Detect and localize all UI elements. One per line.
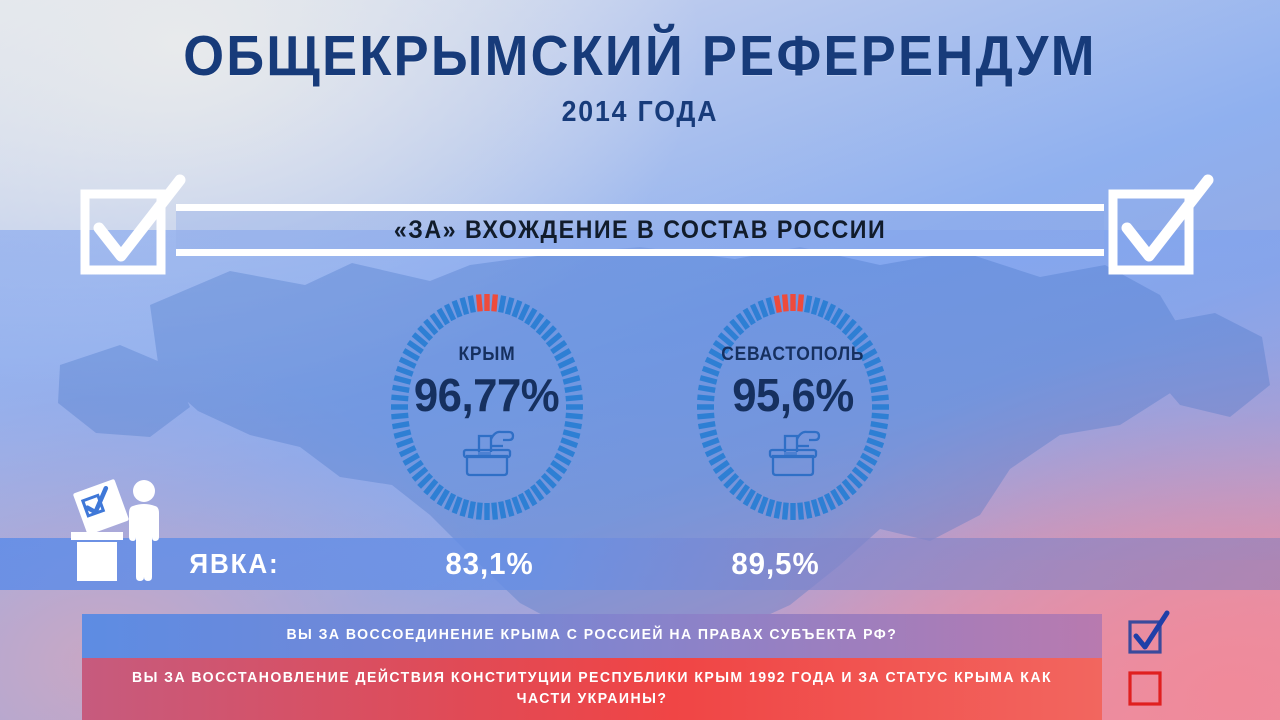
question-2-bar: ВЫ ЗА ВОССТАНОВЛЕНИЕ ДЕЙСТВИЯ КОНСТИТУЦИ…: [82, 658, 1102, 720]
banner-label: «ЗА» ВХОЖДЕНИЕ В СОСТАВ РОССИИ: [208, 204, 1071, 256]
infographic-canvas: ОБЩЕКРЫМСКИЙ РЕФЕРЕНДУМ 2014 ГОДА «ЗА» В…: [0, 0, 1280, 720]
ballot-box-icon: [765, 426, 821, 478]
ballot-question-2: ВЫ ЗА ВОССТАНОВЛЕНИЕ ДЕЙСТВИЯ КОНСТИТУЦИ…: [0, 658, 1280, 720]
donut-chart-sevastopol: СЕВАСТОПОЛЬ 95,6%: [685, 282, 901, 532]
donut-value-sevastopol: 95,6%: [732, 368, 854, 422]
turnout-value-sevastopol: 89,5%: [731, 546, 819, 582]
donut-chart-group: КРЫМ 96,77% СЕВАСТ: [0, 282, 1280, 534]
donut-label-sevastopol: СЕВАСТОПОЛЬ: [722, 344, 865, 366]
donut-chart-crimea: КРЫМ 96,77%: [379, 282, 595, 532]
title-subtitle: 2014 ГОДА: [51, 96, 1229, 129]
checkbox-empty-icon[interactable]: [1126, 669, 1168, 709]
ballot-box-icon: [459, 426, 515, 478]
ballot-questions: ВЫ ЗА ВОССОЕДИНЕНИЕ КРЫМА С РОССИЕЙ НА П…: [0, 614, 1280, 720]
question-2-text: ВЫ ЗА ВОССТАНОВЛЕНИЕ ДЕЙСТВИЯ КОНСТИТУЦИ…: [113, 668, 1071, 710]
banner: «ЗА» ВХОЖДЕНИЕ В СОСТАВ РОССИИ: [80, 182, 1200, 276]
turnout-row: ЯВКА: 83,1% 89,5%: [0, 538, 1280, 590]
ballot-question-1: ВЫ ЗА ВОССОЕДИНЕНИЕ КРЫМА С РОССИЕЙ НА П…: [0, 614, 1280, 658]
donut-label-crimea: КРЫМ: [459, 344, 516, 366]
checkbox-checked-icon: [1108, 182, 1200, 276]
donut-value-crimea: 96,77%: [414, 368, 559, 422]
title-main: ОБЩЕКРЫМСКИЙ РЕФЕРЕНДУМ: [51, 28, 1229, 85]
checkbox-checked-icon[interactable]: [1126, 616, 1168, 656]
turnout-value-crimea: 83,1%: [445, 546, 533, 582]
question-1-text: ВЫ ЗА ВОССОЕДИНЕНИЕ КРЫМА С РОССИЕЙ НА П…: [287, 625, 898, 646]
question-1-bar: ВЫ ЗА ВОССОЕДИНЕНИЕ КРЫМА С РОССИЕЙ НА П…: [82, 614, 1102, 658]
page-title: ОБЩЕКРЫМСКИЙ РЕФЕРЕНДУМ 2014 ГОДА: [0, 28, 1280, 129]
turnout-label: ЯВКА:: [189, 548, 279, 580]
checkbox-checked-icon: [80, 182, 172, 276]
